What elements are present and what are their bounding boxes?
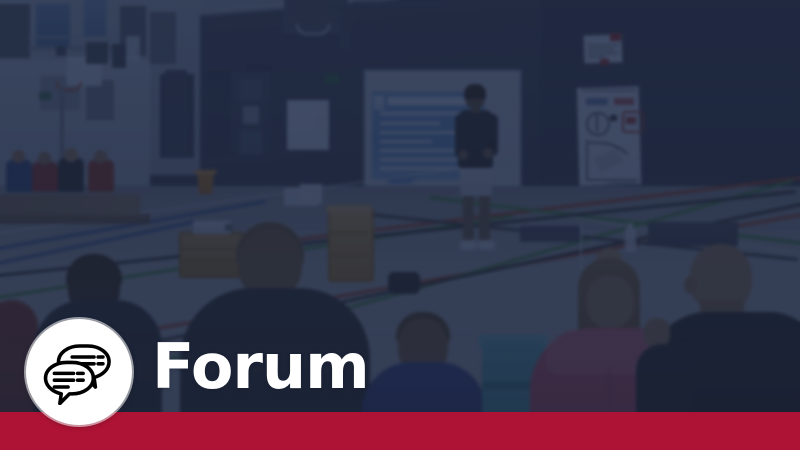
page-title: Forum	[152, 336, 369, 398]
forum-banner: Forum	[0, 0, 800, 450]
speech-bubbles-icon	[38, 339, 120, 405]
bottom-accent-bar	[0, 412, 800, 450]
forum-badge	[26, 319, 132, 425]
